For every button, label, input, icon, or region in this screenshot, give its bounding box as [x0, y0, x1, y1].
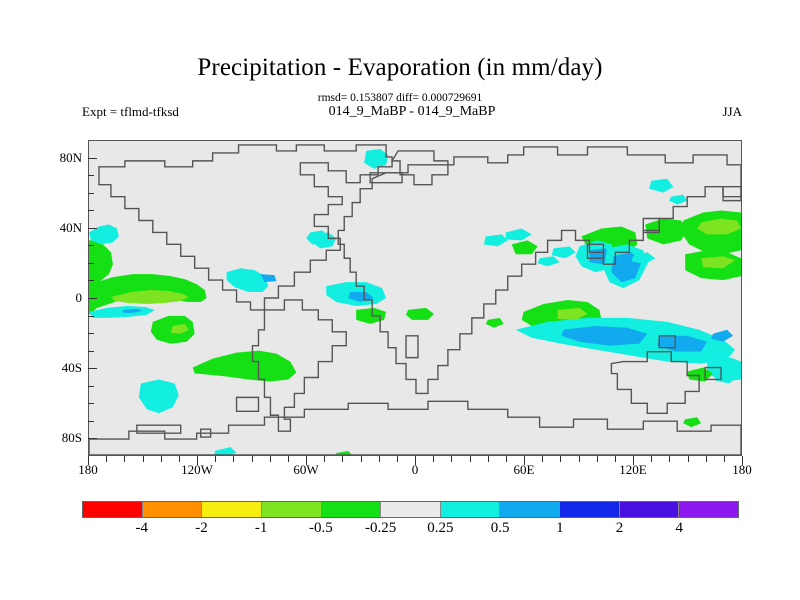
- coastline-australia: [611, 352, 699, 414]
- colorbar-band: [380, 502, 440, 517]
- region-spacific-wet-streak: [89, 306, 155, 318]
- x-tick-label: 60E: [494, 462, 554, 478]
- colorbar-tick-label: -0.25: [351, 520, 411, 537]
- colorbar-band: [559, 502, 619, 517]
- y-tick-minor: [88, 263, 94, 264]
- colorbar-tick-label: -1: [231, 520, 291, 537]
- x-tick-label: 60W: [276, 462, 336, 478]
- y-axis-labels: 80N40N040S80S: [30, 140, 82, 456]
- y-tick-label: 40S: [36, 360, 82, 376]
- colorbar-tick-label: 1: [530, 520, 590, 537]
- region-bengal-wet-2: [538, 256, 560, 266]
- y-axis-ticks: [88, 140, 98, 456]
- case-label: 014_9_MaBP - 014_9_MaBP: [82, 104, 742, 120]
- region-arabia-wet: [506, 228, 532, 240]
- coastline-island-10: [723, 187, 741, 201]
- region-spcz-dry: [193, 351, 297, 382]
- page-title: Precipitation - Evaporation (in mm/day): [0, 54, 800, 82]
- colorbar-band: [261, 502, 321, 517]
- y-tick-major: [88, 438, 97, 439]
- y-tick-major: [88, 228, 97, 229]
- region-nindian-wet: [484, 234, 508, 246]
- colorbar-tick-label: -2: [171, 520, 231, 537]
- world-map: [89, 141, 741, 455]
- region-nasia-wet: [649, 179, 673, 193]
- colorbar-labels: -4-2-1-0.5-0.250.250.5124: [82, 520, 739, 540]
- y-tick-minor: [88, 193, 94, 194]
- y-tick-label: 40N: [36, 220, 82, 236]
- x-tick-label: 0: [385, 462, 445, 478]
- statistics-line: rmsd= 0.153807 diff= 0.000729691: [0, 92, 800, 104]
- x-tick-label: 120E: [603, 462, 663, 478]
- y-tick-minor: [88, 333, 94, 334]
- region-antarctic-edge: [215, 447, 237, 455]
- region-atlantic-dry-1: [356, 308, 386, 324]
- colorbar-band: [499, 502, 559, 517]
- region-sepacific-wet: [139, 379, 179, 413]
- coastline-antarctica: [89, 401, 741, 455]
- map-plot-area: [88, 140, 742, 456]
- season-label: JJA: [722, 104, 742, 120]
- y-tick-minor: [88, 351, 94, 352]
- y-tick-minor: [88, 175, 94, 176]
- region-arabia-dry: [512, 240, 538, 254]
- colorbar-tick-label: -0.5: [291, 520, 351, 537]
- colorbar-tick-label: 4: [649, 520, 709, 537]
- y-tick-major: [88, 158, 97, 159]
- y-tick-minor: [88, 210, 94, 211]
- y-tick-major: [88, 368, 97, 369]
- region-wpacific-dry-1: [645, 219, 687, 245]
- y-tick-label: 80N: [36, 150, 82, 166]
- y-tick-major: [88, 298, 97, 299]
- region-nasia-wet-2: [669, 195, 687, 205]
- colorbar-band: [83, 502, 142, 517]
- region-bengal-wet: [552, 246, 576, 258]
- x-tick-label: 120W: [167, 462, 227, 478]
- subtitle-row: Expt = tflmd-tfksd 014_9_MaBP - 014_9_Ma…: [82, 104, 742, 122]
- region-atlantic-dry-2: [406, 308, 434, 320]
- y-tick-minor: [88, 421, 94, 422]
- colorbar-band: [142, 502, 202, 517]
- coastline-greenland: [392, 151, 448, 185]
- y-tick-minor: [88, 403, 94, 404]
- coastline-island-3: [237, 397, 259, 411]
- y-tick-label: 0: [36, 290, 82, 306]
- colorbar-band: [619, 502, 679, 517]
- colorbar-band: [440, 502, 500, 517]
- coastline-island-5: [406, 336, 418, 358]
- region-africa-dry: [486, 318, 504, 328]
- x-tick-label: 180: [58, 462, 118, 478]
- y-tick-label: 80S: [36, 430, 82, 446]
- colorbar-tick-label: 0.25: [410, 520, 470, 537]
- region-arctic-wet: [364, 149, 388, 169]
- coastline-island-1: [137, 425, 181, 433]
- colorbar-band: [321, 502, 381, 517]
- colorbar-tick-label: -4: [112, 520, 172, 537]
- y-tick-minor: [88, 280, 94, 281]
- figure-canvas: Precipitation - Evaporation (in mm/day) …: [0, 0, 800, 600]
- y-tick-minor: [88, 245, 94, 246]
- colorbar-tick-label: 0.5: [470, 520, 530, 537]
- x-tick-label: 180: [712, 462, 772, 478]
- colorbar-band: [201, 502, 261, 517]
- y-tick-minor: [88, 386, 94, 387]
- y-tick-minor: [88, 316, 94, 317]
- region-carib-wet: [227, 268, 269, 292]
- colorbar-band: [678, 502, 738, 517]
- x-axis-labels: 180120W60W060E120E180: [88, 462, 742, 482]
- colorbar: [82, 501, 739, 518]
- colorbar-tick-label: 2: [590, 520, 650, 537]
- region-antarctic-dry: [683, 417, 701, 427]
